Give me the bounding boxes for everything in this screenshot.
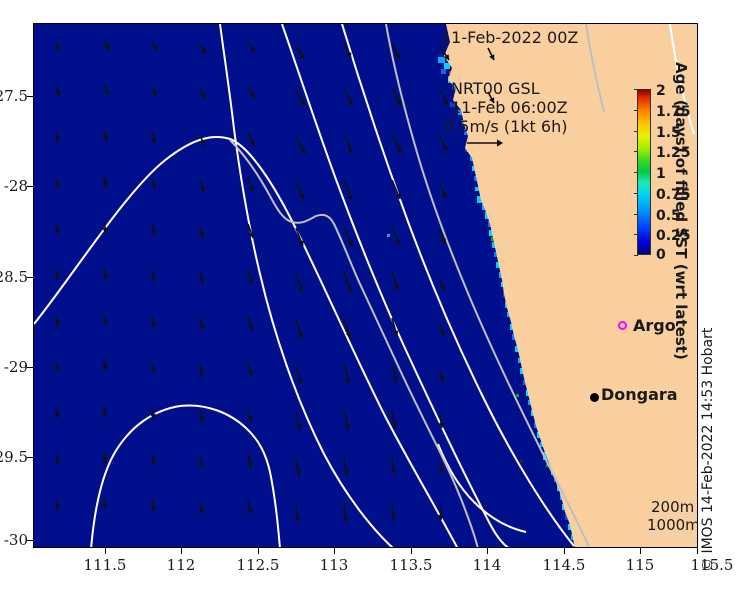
y-tick-label: -28 <box>4 177 28 195</box>
x-tick-label: 111.5 <box>84 556 127 574</box>
x-tick-label: 115 <box>626 556 655 574</box>
vector-legend-source: NRT00 GSL <box>451 79 540 98</box>
y-tick-label: -30 <box>4 531 28 549</box>
date-stamp: 11-Feb-2022 00Z <box>441 28 578 47</box>
dongara-marker-icon[interactable] <box>590 393 599 402</box>
y-tick-label: -29 <box>4 358 28 376</box>
x-tick-label: 112 <box>167 556 196 574</box>
x-tick <box>487 548 488 554</box>
vector-legend-time: 11-Feb 06:00Z <box>451 98 568 117</box>
colorbar-tick <box>634 131 638 132</box>
x-tick <box>411 548 412 554</box>
colorbar-tick <box>634 89 638 90</box>
colorbar-tick <box>634 110 638 111</box>
depth-label-1000m: 1000m <box>647 516 698 534</box>
y-tick-label: -27.5 <box>0 87 28 105</box>
y-tick-label: -29.5 <box>0 448 28 466</box>
depth-label-200m: 200m <box>651 498 694 516</box>
dongara-label: Dongara <box>601 385 678 404</box>
colorbar-gradient <box>637 89 651 255</box>
colorbar-label: 1 <box>656 166 666 182</box>
colorbar-tick <box>634 172 638 173</box>
y-tick-label: -28.5 <box>0 268 28 286</box>
colorbar-title: Age (days) of filled SST (wrt latest) <box>672 62 690 360</box>
ocean-map-figure: 11-Feb-2022 00Z NRT00 GSL 11-Feb 06:00Z … <box>0 0 740 592</box>
x-tick <box>105 548 106 554</box>
argo-marker-icon[interactable] <box>618 321 627 330</box>
depth-rule-200m <box>649 515 698 516</box>
colorbar-label: 2 <box>656 83 666 99</box>
map-plot-area[interactable]: 11-Feb-2022 00Z NRT00 GSL 11-Feb 06:00Z … <box>33 23 698 548</box>
colorbar-tick <box>634 151 638 152</box>
x-tick-label: 112.5 <box>237 556 280 574</box>
colorbar-tick <box>634 234 638 235</box>
x-tick <box>181 548 182 554</box>
x-tick-label: 113.5 <box>390 556 433 574</box>
x-tick <box>564 548 565 554</box>
colorbar-tick <box>634 193 638 194</box>
x-tick-label: 114 <box>473 556 502 574</box>
colorbar-label: 0 <box>656 247 666 263</box>
colorbar-tick <box>634 255 638 256</box>
credit-text: © IMOS 14-Feb-2022 14:53 Hobart <box>700 328 716 572</box>
x-tick <box>697 548 698 554</box>
x-tick <box>334 548 335 554</box>
argo-label: Argo <box>633 316 676 335</box>
x-tick <box>258 548 259 554</box>
colorbar-tick <box>634 214 638 215</box>
x-tick <box>640 548 641 554</box>
right-arrow-icon <box>467 137 505 149</box>
depth-rule-1000m <box>645 534 698 535</box>
x-tick-label: 113 <box>320 556 349 574</box>
vector-legend-scale: 0.5m/s (1kt 6h) <box>444 117 567 136</box>
current-vector-field <box>34 24 698 548</box>
x-tick-label: 114.5 <box>543 556 586 574</box>
